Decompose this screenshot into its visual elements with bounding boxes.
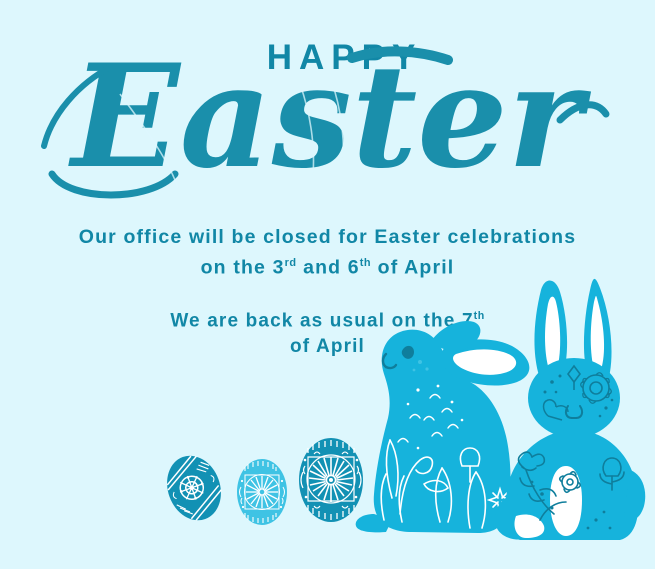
closure-day-1-ordinal: rd	[285, 257, 297, 269]
egg-tilted-medallion-icon	[158, 448, 229, 528]
closure-day-2-ordinal: th	[360, 257, 371, 269]
egg-sunburst-light-icon	[237, 459, 287, 525]
easter-greeting-card: HAPPY Easter	[0, 0, 655, 569]
script-word: Easter	[68, 34, 592, 200]
rabbit-upright-front-icon	[495, 279, 645, 540]
headline-group: HAPPY Easter	[0, 14, 655, 204]
egg-sunburst-large-icon	[299, 438, 363, 522]
easter-script-wordmark: Easter	[0, 14, 655, 204]
message-line-1: Our office will be closed for Easter cel…	[0, 224, 655, 250]
easter-illustration	[0, 270, 655, 540]
